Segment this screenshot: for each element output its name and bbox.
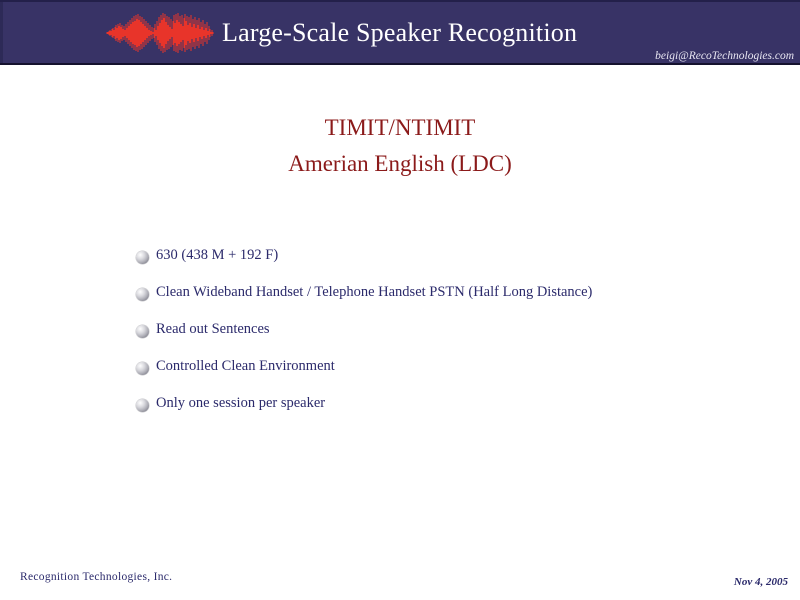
list-item: Clean Wideband Handset / Telephone Hands…: [136, 283, 756, 320]
list-item: Only one session per speaker: [136, 394, 756, 431]
list-item-label: Read out Sentences: [156, 320, 270, 339]
sphere-bullet-icon: [136, 362, 149, 375]
list-item-label: Clean Wideband Handset / Telephone Hands…: [156, 283, 592, 302]
sphere-bullet-icon: [136, 288, 149, 301]
footer-company-name: Recognition Technologies, Inc.: [20, 570, 172, 584]
banner-title: Large-Scale Speaker Recognition: [222, 18, 577, 48]
page-title-line-2: Amerian English (LDC): [0, 146, 800, 182]
sphere-bullet-icon: [136, 251, 149, 264]
sphere-bullet-icon: [136, 325, 149, 338]
page-title: TIMIT/NTIMIT Amerian English (LDC): [0, 110, 800, 182]
list-item: Read out Sentences: [136, 320, 756, 357]
list-item: Controlled Clean Environment: [136, 357, 756, 394]
list-item-label: 630 (438 M + 192 F): [156, 246, 278, 265]
banner-email: beigi@RecoTechnologies.com: [655, 49, 794, 63]
list-item-label: Only one session per speaker: [156, 394, 325, 413]
presentation-slide: Large-Scale Speaker Recognition beigi@Re…: [0, 0, 800, 600]
banner-left-edge: [0, 2, 3, 65]
page-title-line-1: TIMIT/NTIMIT: [0, 110, 800, 146]
bullet-list: 630 (438 M + 192 F) Clean Wideband Hands…: [136, 246, 756, 431]
sphere-bullet-icon: [136, 399, 149, 412]
banner-inner: Large-Scale Speaker Recognition beigi@Re…: [0, 2, 800, 63]
audio-waveform-icon: [105, 11, 217, 55]
footer-date: Nov 4, 2005: [734, 575, 788, 589]
list-item: 630 (438 M + 192 F): [136, 246, 756, 283]
slide-banner: Large-Scale Speaker Recognition beigi@Re…: [0, 0, 800, 65]
list-item-label: Controlled Clean Environment: [156, 357, 335, 376]
